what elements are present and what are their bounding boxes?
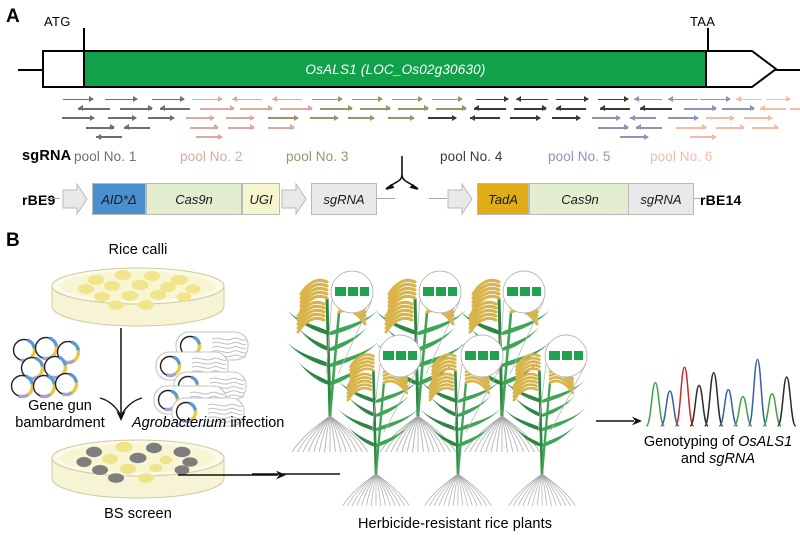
promoter-chevron bbox=[62, 182, 88, 216]
sgrna-arrow-shaft bbox=[474, 108, 506, 110]
sgrna-arrow bbox=[744, 115, 772, 122]
sgrna-arrow bbox=[640, 105, 672, 112]
sgrna-arrow-head bbox=[148, 105, 153, 111]
sgrna-arrow-head bbox=[268, 105, 273, 111]
sgrna-arrow bbox=[630, 115, 656, 122]
sgrna-arrow bbox=[592, 115, 620, 122]
sgrna-arrow bbox=[700, 96, 730, 103]
sgrna-arrow bbox=[232, 96, 262, 103]
sgrna-arrow-head bbox=[644, 134, 649, 140]
sgrna-arrow-head bbox=[740, 124, 745, 130]
genotyping-caption-line1: Genotyping of OsALS1 bbox=[628, 434, 800, 451]
sgrna-arrow-shaft bbox=[78, 108, 110, 110]
sgrna-arrow bbox=[634, 96, 662, 103]
sgrna-arrow-head bbox=[556, 105, 561, 111]
sgrna-arrow bbox=[736, 96, 762, 103]
atg-label: ATG bbox=[44, 14, 71, 29]
genotyping-line1-italic: OsALS1 bbox=[738, 434, 792, 450]
sgrna-arrow bbox=[86, 124, 114, 131]
sgrna-arrow-head bbox=[124, 124, 129, 130]
sgrna-arrow bbox=[196, 134, 222, 141]
bs-screen-caption: BS screen bbox=[48, 506, 228, 522]
sgrna-arrow bbox=[272, 96, 302, 103]
gene-model: OsALS1 (LOC_Os02g30630) bbox=[18, 50, 782, 90]
construct-element-ugi: UGI bbox=[242, 183, 280, 215]
chromatogram bbox=[648, 348, 794, 435]
sgrna-arrow bbox=[556, 105, 586, 112]
sgrna-arrow-head bbox=[348, 105, 353, 111]
sgrna-arrow bbox=[200, 105, 234, 112]
sgrna-arrow-head bbox=[774, 124, 779, 130]
gene-left-line bbox=[18, 69, 42, 71]
sgrna-arrow-head bbox=[250, 124, 255, 130]
sgrna-arrow bbox=[598, 96, 628, 103]
panel-b-letter: B bbox=[6, 230, 20, 252]
sgrna-arrow-head bbox=[452, 115, 457, 121]
sgrna-arrow-head bbox=[760, 105, 765, 111]
sgrna-arrow-head bbox=[218, 134, 223, 140]
sgrna-arrow-shaft bbox=[160, 108, 190, 110]
sgrna-arrow bbox=[280, 105, 312, 112]
herbicide-plants-caption: Herbicide-resistant rice plants bbox=[280, 516, 630, 532]
sgrna-arrow-head bbox=[474, 105, 479, 111]
sgrna-arrow bbox=[636, 124, 662, 131]
sgrna-arrow-head bbox=[308, 105, 313, 111]
sgrna-arrow-head bbox=[90, 115, 95, 121]
sgrna-arrow-head bbox=[640, 105, 645, 111]
sgrna-arrow-head bbox=[294, 115, 299, 121]
sgrna-arrow-head bbox=[272, 96, 277, 102]
sgrna-arrow-head bbox=[110, 124, 115, 130]
sgrna-arrow-head bbox=[694, 115, 699, 121]
sgrna-arrow-head bbox=[600, 105, 605, 111]
sgrna-arrow bbox=[96, 134, 122, 141]
construct-connector bbox=[44, 198, 60, 199]
sgrna-pool-label-3: pool No. 3 bbox=[286, 149, 349, 164]
construct-connector bbox=[377, 198, 395, 199]
figure-root: A OsALS1 (LOC_Os02g30630) ATG TAA sgRNA … bbox=[0, 0, 800, 538]
agrobacterium-caption: Agrobacterium infection bbox=[132, 415, 284, 431]
sgrna-arrow bbox=[706, 115, 734, 122]
sgrna-arrow-head bbox=[89, 96, 94, 102]
sgrna-arrow bbox=[790, 105, 800, 112]
sgrna-arrow bbox=[392, 96, 422, 103]
sgrna-arrow-head bbox=[702, 124, 707, 130]
sgrna-arrow-head bbox=[668, 96, 673, 102]
construct-name-rbe9: rBE9 bbox=[22, 192, 55, 208]
sgrna-arrow bbox=[668, 115, 698, 122]
sgrna-arrow-head bbox=[576, 115, 581, 121]
sgrna-arrow-head bbox=[214, 124, 219, 130]
sgrna-arrow-head bbox=[750, 105, 755, 111]
sgrna-arrow bbox=[190, 124, 218, 131]
sgrna-arrow-head bbox=[334, 115, 339, 121]
sgrna-arrow-head bbox=[424, 105, 429, 111]
panel-b: B Rice calli bbox=[0, 228, 800, 538]
sgrna-arrow-head bbox=[470, 115, 475, 121]
sgrna-arrow bbox=[398, 105, 428, 112]
construct-connector bbox=[429, 198, 447, 199]
sgrna-arrow-head bbox=[786, 96, 791, 102]
sgrna-arrow-head bbox=[504, 96, 509, 102]
sgrna-arrow-head bbox=[386, 105, 391, 111]
sgrna-arrow bbox=[160, 105, 190, 112]
panel-a-letter: A bbox=[6, 6, 20, 28]
sgrna-arrow-head bbox=[250, 115, 255, 121]
sgrna-arrow bbox=[152, 96, 184, 103]
sgrna-arrow-head bbox=[160, 105, 165, 111]
sgrna-arrow bbox=[228, 124, 254, 131]
sgrna-arrow bbox=[320, 105, 352, 112]
gene-right-line bbox=[775, 69, 800, 71]
sgrna-arrow bbox=[668, 96, 698, 103]
sgrna-arrow-head bbox=[536, 115, 541, 121]
sgrna-arrow-head bbox=[410, 115, 415, 121]
sgrna-arrow bbox=[120, 105, 152, 112]
sgrna-arrow bbox=[388, 115, 414, 122]
construct-name-rbe14: rBE14 bbox=[700, 192, 741, 208]
sgrna-arrow bbox=[552, 115, 580, 122]
sgrna-arrow-head bbox=[712, 105, 717, 111]
panel-a: A OsALS1 (LOC_Os02g30630) ATG TAA sgRNA … bbox=[0, 0, 800, 228]
sgrna-arrow-head bbox=[96, 134, 101, 140]
sgrna-arrow bbox=[676, 124, 706, 131]
construct-element-cas9n: Cas9n bbox=[146, 183, 242, 215]
sgrna-arrow bbox=[436, 105, 466, 112]
sgrna-arrow bbox=[760, 105, 786, 112]
sgrna-arrow-head bbox=[516, 96, 521, 102]
sgrna-arrow bbox=[148, 115, 174, 122]
sgrna-arrow-head bbox=[462, 105, 467, 111]
sgrna-arrow-head bbox=[170, 115, 175, 121]
sgrna-arrow-head bbox=[712, 134, 717, 140]
sgrna-arrow-head bbox=[616, 115, 621, 121]
sgrna-arrow-shaft bbox=[516, 99, 548, 101]
sgrna-arrow bbox=[516, 96, 548, 103]
construct-element-sgrna: sgRNA bbox=[311, 183, 377, 215]
gene-gun-caption-line2: bambardment bbox=[2, 415, 118, 432]
rice-plant-group bbox=[290, 256, 620, 506]
sgrna-arrow-head bbox=[180, 96, 185, 102]
sgrna-arrow bbox=[240, 105, 272, 112]
sgrna-arrow-head bbox=[634, 96, 639, 102]
sgrna-arrow-head bbox=[133, 96, 138, 102]
sgrna-arrow bbox=[78, 105, 110, 112]
gene-gun-caption: Gene gun bambardment bbox=[2, 398, 118, 432]
sgrna-arrow-head bbox=[542, 105, 547, 111]
sgrna-arrow bbox=[63, 96, 93, 103]
sgrna-arrow-shaft bbox=[232, 99, 262, 101]
sgrna-arrow-head bbox=[132, 115, 137, 121]
sgrna-arrow-shaft bbox=[470, 117, 500, 119]
sgrna-arrow bbox=[510, 115, 540, 122]
sgrna-pool-label-2: pool No. 2 bbox=[180, 149, 243, 164]
sgrna-arrow bbox=[360, 105, 390, 112]
sgrna-arrow bbox=[268, 124, 294, 131]
plants-to-genotyping-arrow bbox=[596, 414, 644, 433]
gene-cds-box: OsALS1 (LOC_Os02g30630) bbox=[83, 50, 708, 88]
agrobacterium-caption-italic: Agrobacterium bbox=[132, 415, 226, 431]
construct-row: rBE9AID*ΔCas9nUGIsgRNArBE14TadACas9nsgRN… bbox=[0, 181, 800, 223]
sgrna-arrow-head bbox=[338, 96, 343, 102]
sgrna-arrow-field bbox=[0, 96, 800, 146]
sgrna-row-label: sgRNA bbox=[22, 148, 71, 164]
sgrna-arrow-shaft bbox=[668, 99, 698, 101]
sgrna-arrow bbox=[310, 115, 338, 122]
sgrna-arrow-head bbox=[624, 96, 629, 102]
genotyping-line2-italic: sgRNA bbox=[709, 451, 755, 467]
sgrna-arrow-head bbox=[370, 115, 375, 121]
sgrna-arrow-head bbox=[630, 115, 635, 121]
sgrna-arrow-head bbox=[290, 124, 295, 130]
sgrna-arrow bbox=[556, 96, 588, 103]
construct-connector bbox=[694, 198, 700, 199]
agrobacterium-caption-rest: infection bbox=[226, 415, 284, 431]
genotyping-line2-plain: and bbox=[681, 451, 709, 467]
sgrna-arrow bbox=[268, 115, 298, 122]
sgrna-arrow bbox=[124, 124, 150, 131]
sgrna-arrow-head bbox=[458, 96, 463, 102]
sgrna-arrow bbox=[766, 96, 790, 103]
sgrna-arrow bbox=[312, 96, 342, 103]
sgrna-arrow bbox=[428, 115, 456, 122]
promoter-chevron bbox=[281, 182, 307, 216]
sgrna-arrow bbox=[432, 96, 462, 103]
sgrna-arrow-head bbox=[584, 96, 589, 102]
sgrna-arrow-head bbox=[624, 124, 629, 130]
gene-utr5-box bbox=[42, 50, 85, 88]
sgrna-pool-label-6: pool No. 6 bbox=[650, 149, 713, 164]
sgrna-arrow-shaft bbox=[556, 108, 586, 110]
sgrna-arrow-shaft bbox=[272, 99, 302, 101]
taa-tick bbox=[707, 28, 709, 52]
sgrna-arrow bbox=[598, 124, 628, 131]
sgrna-arrow-head bbox=[736, 96, 741, 102]
sgrna-arrow bbox=[620, 134, 648, 141]
sgrna-arrow-head bbox=[378, 96, 383, 102]
sgrna-arrow-head bbox=[636, 124, 641, 130]
sgrna-arrow bbox=[352, 96, 382, 103]
sgrna-arrow bbox=[105, 96, 137, 103]
sgrna-arrow-shaft bbox=[790, 108, 800, 110]
construct-element-sgrna: sgRNA bbox=[628, 183, 694, 215]
gene-gun-caption-line1: Gene gun bbox=[2, 398, 118, 415]
sgrna-arrow bbox=[752, 124, 778, 131]
sgrna-arrow-head bbox=[726, 96, 731, 102]
sgrna-arrow-head bbox=[218, 96, 223, 102]
taa-label: TAA bbox=[690, 14, 715, 29]
sgrna-arrow-head bbox=[768, 115, 773, 121]
sgrna-arrow bbox=[348, 115, 374, 122]
sgrna-arrow bbox=[690, 134, 716, 141]
sgrna-arrow bbox=[716, 124, 744, 131]
sgrna-arrow-head bbox=[232, 96, 237, 102]
genotyping-line1-plain: Genotyping of bbox=[644, 434, 738, 450]
sgrna-arrow bbox=[514, 105, 546, 112]
sgrna-pool-label-1: pool No. 1 bbox=[74, 149, 137, 164]
genotyping-caption: Genotyping of OsALS1 and sgRNA bbox=[628, 434, 800, 468]
sgrna-arrow bbox=[108, 115, 136, 122]
sgrna-arrow bbox=[684, 105, 716, 112]
genotyping-caption-line2: and sgRNA bbox=[628, 451, 800, 468]
sgrna-arrow bbox=[722, 105, 754, 112]
sgrna-arrow-head bbox=[230, 105, 235, 111]
sgrna-arrow bbox=[470, 115, 500, 122]
sgrna-arrow bbox=[474, 105, 506, 112]
sgrna-arrow bbox=[476, 96, 508, 103]
sgrna-arrow bbox=[600, 105, 630, 112]
sgrna-arrow-head bbox=[418, 96, 423, 102]
gene-utr3-arrowhead bbox=[706, 50, 778, 88]
construct-element-tada: TadA bbox=[477, 183, 529, 215]
sgrna-arrow bbox=[62, 115, 94, 122]
sgrna-arrow-head bbox=[210, 115, 215, 121]
sgrna-arrow bbox=[192, 96, 222, 103]
sgrna-arrow-shaft bbox=[600, 108, 630, 110]
sgrna-arrow-head bbox=[730, 115, 735, 121]
rice-calli-caption: Rice calli bbox=[38, 242, 238, 258]
sgrna-pool-label-5: pool No. 5 bbox=[548, 149, 611, 164]
sgrna-arrow-shaft bbox=[640, 108, 672, 110]
construct-element-aid: AID*Δ bbox=[92, 183, 146, 215]
sgrna-arrow bbox=[226, 115, 254, 122]
sgrna-arrow bbox=[186, 115, 214, 122]
atg-tick bbox=[83, 28, 85, 52]
promoter-chevron bbox=[447, 182, 473, 216]
gene-label: OsALS1 (LOC_Os02g30630) bbox=[85, 62, 706, 77]
sgrna-arrow-head bbox=[78, 105, 83, 111]
construct-element-cas9n: Cas9n bbox=[529, 183, 631, 215]
